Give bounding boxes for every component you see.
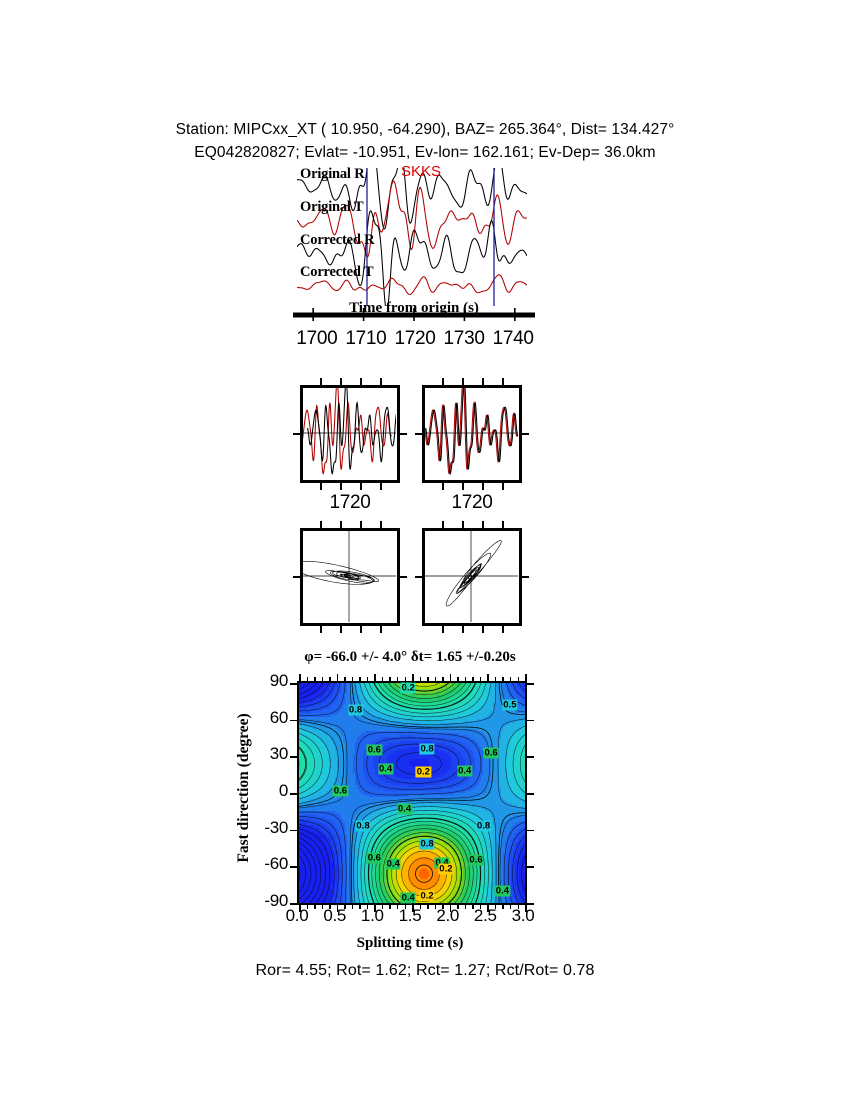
box-tick	[400, 576, 407, 578]
slow-trace	[425, 388, 517, 474]
trace-corrected-r	[297, 211, 527, 306]
box-tick	[320, 483, 322, 490]
particle-motion-box-uncorrected	[300, 528, 400, 626]
contour-ytick	[525, 756, 534, 758]
splitting-result-title: φ= -66.0 +/- 4.0° δt= 1.65 +/-0.20s	[250, 649, 570, 666]
event-info-line: EQ042820827; Evlat= -10.951, Ev-lon= 162…	[0, 141, 850, 164]
box-tick	[502, 378, 504, 385]
box-tick	[522, 433, 529, 435]
contour-ytick-label: 90	[232, 671, 288, 691]
contour-xtick	[420, 677, 422, 683]
contour-ytick	[290, 830, 299, 832]
contour-xtick	[495, 677, 497, 683]
box-tick	[380, 483, 382, 490]
contour-xtick	[352, 677, 354, 683]
box-tick	[482, 378, 484, 385]
time-axis	[289, 305, 539, 323]
contour-xtick-label: 3.0	[512, 906, 535, 926]
time-tick: 1710	[345, 328, 386, 350]
contour-xtick	[450, 674, 452, 683]
contour-xtick	[389, 677, 391, 683]
contour-ytick	[525, 903, 534, 905]
contour-xtick	[344, 677, 346, 683]
box-tick	[340, 626, 342, 633]
contour-xtick-labels: 0.00.51.01.52.02.53.0	[268, 906, 552, 928]
contour-value-label: 0.4	[495, 885, 510, 896]
box-tick	[380, 521, 382, 528]
contour-ytick	[290, 720, 299, 722]
contour-xtick	[435, 677, 437, 683]
contour-value-label: 0.4	[397, 803, 412, 814]
small-box-tick-label-left: 1720	[300, 492, 400, 514]
box-tick	[502, 483, 504, 490]
contour-xtick	[314, 677, 316, 683]
contour-labels: 0.20.80.50.60.80.60.40.20.40.60.40.80.80…	[299, 683, 525, 903]
contour-value-label: 0.6	[468, 855, 483, 866]
contour-xtick	[480, 677, 482, 683]
box-tick	[462, 483, 464, 490]
particle-motion-path-uncorrected	[303, 561, 379, 584]
box-tick	[293, 576, 300, 578]
box-tick	[482, 626, 484, 633]
box-tick	[415, 576, 422, 578]
particle-motion-path-corrected	[446, 540, 501, 606]
contour-xtick	[329, 677, 331, 683]
contour-ytick-label: 60	[232, 708, 288, 728]
contour-value-label: 0.4	[401, 893, 416, 904]
contour-value-label: 0.6	[483, 747, 498, 758]
box-tick	[462, 521, 464, 528]
contour-ytick	[290, 866, 299, 868]
box-tick	[340, 521, 342, 528]
box-tick	[462, 626, 464, 633]
time-tick-labels: 1700 1710 1720 1730 1740	[240, 328, 590, 350]
contour-xtick-label: 1.5	[399, 906, 422, 926]
box-tick	[502, 626, 504, 633]
box-tick	[340, 378, 342, 385]
contour-xtick	[465, 677, 467, 683]
contour-xlabel: Splitting time (s)	[297, 935, 523, 952]
contour-xtick	[472, 677, 474, 683]
box-tick	[320, 521, 322, 528]
station-info-line: Station: MIPCxx_XT ( 10.950, -64.290), B…	[0, 118, 850, 141]
box-tick	[360, 521, 362, 528]
contour-value-label: 0.5	[502, 700, 517, 711]
contour-value-label: 0.6	[333, 785, 348, 796]
contour-ytick	[525, 683, 534, 685]
box-tick	[442, 378, 444, 385]
contour-xtick-label: 0.5	[323, 906, 346, 926]
box-tick	[482, 483, 484, 490]
contour-value-label: 0.8	[476, 821, 491, 832]
box-tick	[360, 626, 362, 633]
fast-slow-waveform-box-uncorrected	[300, 385, 400, 483]
box-tick	[522, 576, 529, 578]
contour-xtick	[412, 674, 414, 683]
particle-motion-box-corrected	[422, 528, 522, 626]
box-tick	[360, 483, 362, 490]
trace-label-original-t: Original T	[300, 199, 363, 216]
contour-xtick	[374, 674, 376, 683]
box-tick	[380, 378, 382, 385]
contour-value-label: 0.4	[378, 763, 393, 774]
time-tick: 1740	[493, 328, 534, 350]
contour-value-label: 0.4	[386, 858, 401, 869]
contour-value-label: 0.6	[367, 852, 382, 863]
phase-label-skks: SKKS	[401, 163, 441, 180]
contour-ytick	[290, 903, 299, 905]
contour-xtick	[307, 677, 309, 683]
box-tick	[502, 521, 504, 528]
trace-label-corrected-t: Corrected T	[300, 264, 373, 281]
box-tick	[482, 521, 484, 528]
contour-ytick	[525, 866, 534, 868]
contour-value-label: 0.2	[438, 863, 453, 874]
contour-xtick	[487, 674, 489, 683]
trace-label-corrected-r: Corrected R	[300, 232, 374, 249]
box-tick	[442, 626, 444, 633]
contour-xtick	[427, 677, 429, 683]
contour-xtick-label: 2.5	[474, 906, 497, 926]
contour-xtick	[525, 674, 527, 683]
contour-ytick	[525, 720, 534, 722]
contour-value-label: 0.2	[401, 682, 416, 693]
time-tick: 1730	[444, 328, 485, 350]
contour-xtick	[510, 677, 512, 683]
contour-ytick-label: 30	[232, 744, 288, 764]
box-tick	[380, 626, 382, 633]
contour-value-label: 0.2	[416, 767, 431, 778]
box-tick	[400, 433, 407, 435]
contour-value-label: 0.8	[355, 821, 370, 832]
contour-value-label: 0.6	[367, 745, 382, 756]
small-box-tick-label-right: 1720	[422, 492, 522, 514]
box-tick	[442, 521, 444, 528]
contour-xtick	[502, 677, 504, 683]
contour-xtick-label: 0.0	[286, 906, 309, 926]
contour-value-label: 0.2	[419, 890, 434, 901]
fast-slow-waveform-box-corrected	[422, 385, 522, 483]
contour-xtick-label: 2.0	[436, 906, 459, 926]
box-tick	[320, 626, 322, 633]
contour-xtick	[322, 677, 324, 683]
contour-ytick	[290, 793, 299, 795]
contour-ytick-label: -30	[232, 818, 288, 838]
contour-value-label: 0.4	[457, 766, 472, 777]
box-tick	[360, 378, 362, 385]
contour-xtick	[518, 677, 520, 683]
box-tick	[320, 378, 322, 385]
error-surface-contour-plot: 0.20.80.50.60.80.60.40.20.40.60.40.80.80…	[297, 681, 527, 905]
figure-header: Station: MIPCxx_XT ( 10.950, -64.290), B…	[0, 118, 850, 164]
contour-xtick	[299, 674, 301, 683]
contour-xtick-label: 1.0	[361, 906, 384, 926]
box-tick	[442, 483, 444, 490]
box-tick	[462, 378, 464, 385]
contour-xtick	[442, 677, 444, 683]
box-tick	[293, 433, 300, 435]
contour-xtick	[359, 677, 361, 683]
contour-value-label: 0.8	[419, 744, 434, 755]
waveform-panel: Original R Original T Corrected R Correc…	[297, 168, 527, 306]
contour-xtick	[367, 677, 369, 683]
contour-value-label: 0.8	[348, 704, 363, 715]
fast-trace	[308, 388, 397, 474]
contour-ytick	[525, 830, 534, 832]
contour-ytick	[525, 793, 534, 795]
contour-xtick	[337, 674, 339, 683]
trace-label-original-r: Original R	[300, 166, 364, 183]
contour-ytick-label: -60	[232, 854, 288, 874]
time-tick: 1720	[394, 328, 435, 350]
contour-xtick	[382, 677, 384, 683]
box-tick	[415, 433, 422, 435]
time-tick: 1700	[296, 328, 337, 350]
contour-ytick	[290, 756, 299, 758]
contour-xtick	[405, 677, 407, 683]
contour-value-label: 0.8	[419, 839, 434, 850]
contour-xtick	[457, 677, 459, 683]
contour-xtick	[397, 677, 399, 683]
contour-ytick	[290, 683, 299, 685]
quality-metrics-line: Ror= 4.55; Rot= 1.62; Rct= 1.27; Rct/Rot…	[0, 962, 850, 980]
contour-ytick-label: 0	[232, 781, 288, 801]
box-tick	[340, 483, 342, 490]
